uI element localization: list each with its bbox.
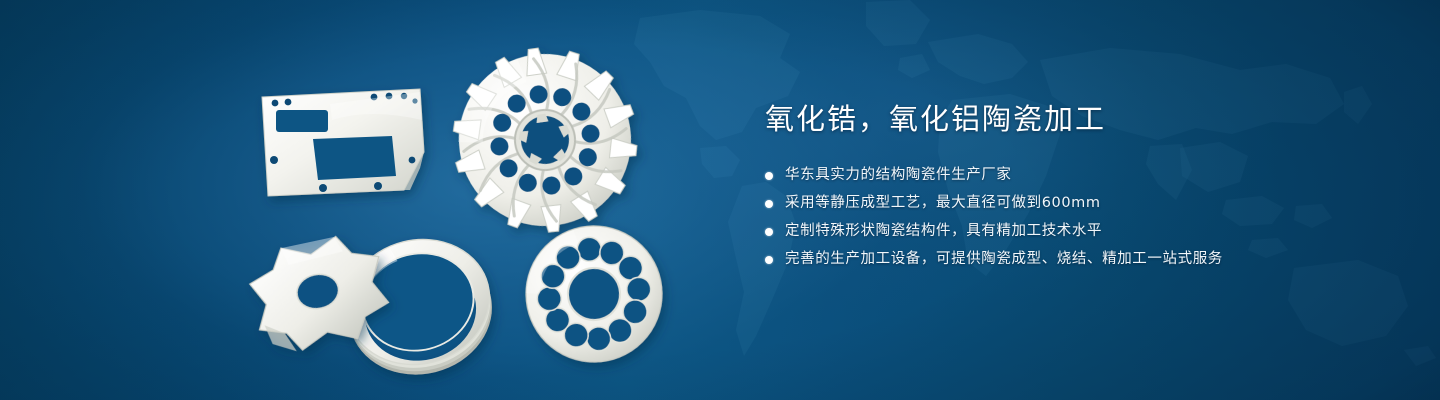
bullet-dot-icon [765, 256, 773, 264]
feature-text: 华东具实力的结构陶瓷件生产厂家 [785, 165, 1012, 185]
list-item: 华东具实力的结构陶瓷件生产厂家 [765, 165, 1385, 185]
list-item: 定制特殊形状陶瓷结构件，具有精加工技术水平 [765, 221, 1385, 241]
bullet-dot-icon [765, 172, 773, 180]
feature-list: 华东具实力的结构陶瓷件生产厂家 采用等静压成型工艺，最大直径可做到600mm 定… [765, 165, 1385, 269]
bullet-dot-icon [765, 228, 773, 236]
promo-banner: 氧化锆，氧化铝陶瓷加工 华东具实力的结构陶瓷件生产厂家 采用等静压成型工艺，最大… [0, 0, 1440, 400]
ceramic-mounting-plate [262, 89, 424, 196]
feature-text: 定制特殊形状陶瓷结构件，具有精加工技术水平 [785, 221, 1102, 241]
feature-text: 采用等静压成型工艺，最大直径可做到600mm [785, 193, 1101, 213]
list-item: 完善的生产加工设备，可提供陶瓷成型、烧结、精加工一站式服务 [765, 249, 1385, 269]
feature-text: 完善的生产加工设备，可提供陶瓷成型、烧结、精加工一站式服务 [785, 249, 1223, 269]
ceramic-perforated-disc [519, 219, 668, 368]
banner-copy: 氧化锆，氧化铝陶瓷加工 华东具实力的结构陶瓷件生产厂家 采用等静压成型工艺，最大… [765, 104, 1385, 277]
page-title: 氧化锆，氧化铝陶瓷加工 [765, 104, 1385, 136]
ceramic-products-image [0, 0, 720, 400]
ceramic-impeller-disc [441, 36, 650, 244]
bullet-dot-icon [765, 200, 773, 208]
list-item: 采用等静压成型工艺，最大直径可做到600mm [765, 193, 1385, 213]
